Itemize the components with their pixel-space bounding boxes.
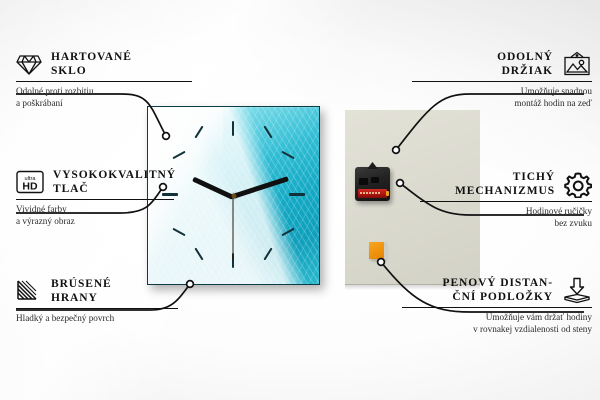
feature-title-line: HRANY [51,291,112,305]
gear-icon [564,171,592,198]
feature-title-line: TICHÝ [455,170,555,184]
feature-title-line: ODOLNÝ [497,50,553,64]
feature-title-line: TLAČ [53,182,176,196]
feature-desc-line: Umožňuje vám držať hodiny [402,312,592,324]
feature-brushed-edges: BRÚSENÉ HRANY Hladký a bezpečný povrch [16,277,178,325]
feature-hardened-glass: HARTOVANÉ SKLO Odolné proti rozbitiu a p… [16,50,192,109]
feature-divider [16,81,192,82]
feature-desc-line: Odolné proti rozbitiu [16,86,192,98]
feature-desc-line: Umožňuje snadnou [412,86,592,98]
badge-hd-text: HD [22,181,38,193]
feature-foam-spacers: PENOVÝ DISTAN- ČNÍ PODLOŽKY Umožňuje vám… [402,276,592,335]
feature-desc-line: bez zvuku [420,218,592,230]
feature-divider [16,199,174,200]
clock-center-pin [231,193,236,198]
feature-title-line: BRÚSENÉ [51,277,112,291]
feature-high-quality-print: ultra HD VYSOKOKVALITNÝ TLAČ Vividné far… [16,168,174,227]
feature-divider [16,308,178,309]
feature-desc-line: Hladký a bezpečný povrch [16,313,178,325]
feature-title-line: VYSOKOKVALITNÝ [53,168,176,182]
feature-title-line: ČNÍ PODLOŽKY [443,290,553,304]
foam-spacer-pad [369,242,384,259]
feature-title-line: PENOVÝ DISTAN- [443,276,553,290]
feature-title-line: MECHANIZMUS [455,184,555,198]
diamond-icon [16,53,42,76]
feature-title-line: DRŽIAK [497,64,553,78]
feature-desc-line: a výrazný obraz [16,216,174,228]
feature-desc-line: v rovnakej vzdialenosti od steny [402,324,592,336]
feature-divider [420,201,592,202]
feature-title-line: SKLO [51,64,132,78]
feature-silent-mechanism: TICHÝ MECHANIZMUS Hodinové ručičky bez z… [420,170,592,229]
picture-hanger-icon [562,51,592,77]
battery [358,189,387,198]
feature-desc-line: Hodinové ručičky [420,206,592,218]
second-hand [233,197,234,261]
feature-durable-hanger: ODOLNÝ DRŽIAK Umožňuje snadnou montáž ho… [412,50,592,109]
brushed-edge-icon [16,279,42,303]
hour-marker [289,193,305,196]
hour-marker [232,121,234,136]
feature-divider [412,81,592,82]
mechanism-slot [359,178,368,185]
clock-mechanism [355,167,390,201]
feature-desc-line: montáž hodin na zeď [412,98,592,110]
feature-divider [402,307,592,308]
foam-pad-arrow-icon [562,277,592,304]
feature-desc-line: Vividné farby [16,204,174,216]
feature-desc-line: a poškrábaní [16,98,192,110]
feature-title-line: HARTOVANÉ [51,50,132,64]
mechanism-slot [371,177,379,183]
ultra-hd-badge-icon: ultra HD [16,170,44,194]
infographic-canvas: HARTOVANÉ SKLO Odolné proti rozbitiu a p… [0,0,600,400]
